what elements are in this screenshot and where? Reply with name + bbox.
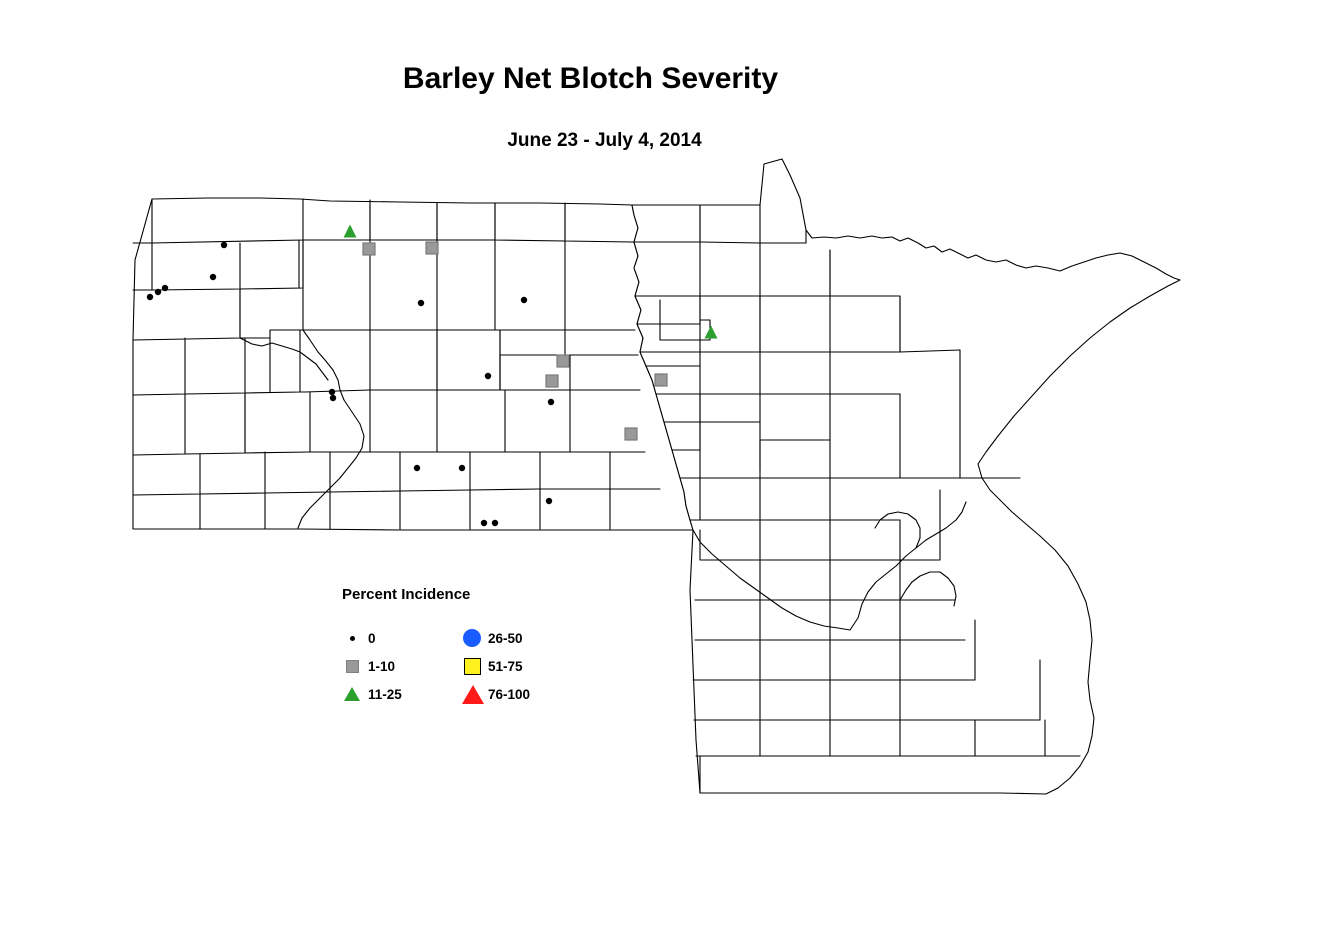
legend-item-11-25: 11-25 (340, 680, 402, 708)
map-marker-0 (492, 520, 498, 526)
map-marker-0 (521, 297, 527, 303)
legend-column-left: 0 1-10 11-25 (340, 624, 402, 708)
map-marker-0 (147, 294, 153, 300)
map-marker-1-10 (546, 375, 558, 387)
legend-label-1-10: 1-10 (368, 659, 395, 674)
map-marker-0 (221, 242, 227, 248)
map-marker-0 (330, 395, 336, 401)
map-marker-0 (481, 520, 487, 526)
legend-green-triangle-icon (340, 681, 366, 707)
legend-item-51-75: 51-75 (460, 652, 530, 680)
legend-item-1-10: 1-10 (340, 652, 402, 680)
legend-column-right: 26-50 51-75 76-100 (460, 624, 530, 708)
legend-item-0: 0 (340, 624, 402, 652)
legend-label-51-75: 51-75 (488, 659, 523, 674)
map-marker-0 (210, 274, 216, 280)
legend-item-26-50: 26-50 (460, 624, 530, 652)
north-dakota-outline (133, 198, 693, 530)
legend-title: Percent Incidence (342, 586, 470, 603)
legend-gray-square-icon (340, 653, 366, 679)
minnesota-outline (632, 159, 1180, 794)
legend-label-11-25: 11-25 (368, 687, 402, 702)
map-marker-1-10 (363, 243, 375, 255)
map-marker-1-10 (625, 428, 637, 440)
legend-blue-circle-icon (460, 625, 486, 651)
map-marker-0 (459, 465, 465, 471)
legend-item-76-100: 76-100 (460, 680, 530, 708)
legend: Percent Incidence 0 1-10 11-25 26-50 (340, 586, 580, 711)
map-marker-1-10 (426, 242, 438, 254)
state-counties-map (0, 0, 1341, 926)
legend-label-0: 0 (368, 631, 376, 646)
map-marker-1-10 (557, 355, 569, 367)
map-marker-0 (162, 285, 168, 291)
legend-label-26-50: 26-50 (488, 631, 523, 646)
map-page: Barley Net Blotch Severity June 23 - Jul… (0, 0, 1341, 926)
map-marker-0 (155, 289, 161, 295)
map-marker-0 (548, 399, 554, 405)
map-marker-0 (546, 498, 552, 504)
map-marker-1-10 (655, 374, 667, 386)
map-marker-0 (414, 465, 420, 471)
map-county-outlines (133, 159, 1180, 794)
map-marker-0 (329, 389, 335, 395)
map-marker-0 (485, 373, 491, 379)
legend-label-76-100: 76-100 (488, 687, 530, 702)
legend-red-triangle-icon (460, 681, 486, 707)
map-marker-0 (418, 300, 424, 306)
legend-dot-icon (340, 625, 366, 651)
legend-yellow-square-icon (460, 653, 486, 679)
